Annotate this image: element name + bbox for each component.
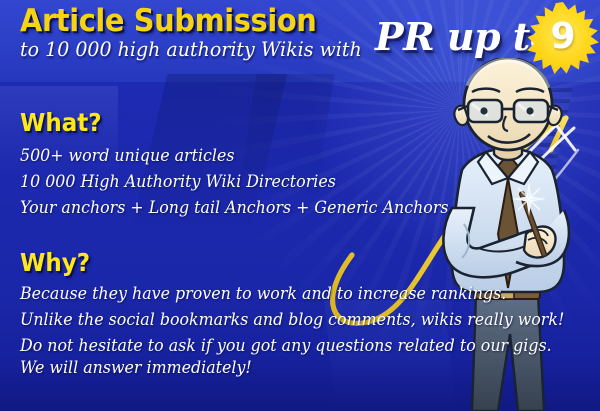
cartoon-businessman-illustration: [418, 58, 600, 411]
why-line-1: Because they have proven to work and to …: [20, 284, 506, 303]
page-subtitle: to 10 000 high authority Wikis with: [20, 37, 362, 61]
sunburst-star-icon: 9: [527, 2, 599, 74]
section-heading-why: Why?: [20, 248, 90, 277]
what-line-1: 500+ word unique articles: [20, 146, 235, 165]
why-line-4: We will answer immediately!: [20, 358, 252, 377]
section-heading-what: What?: [20, 108, 102, 137]
what-line-2: 10 000 High Authority Wiki Directories: [20, 172, 336, 191]
page-title: Article Submission: [20, 3, 316, 39]
why-line-2: Unlike the social bookmarks and blog com…: [20, 310, 564, 329]
what-line-3: Your anchors + Long tail Anchors + Gener…: [20, 198, 449, 217]
badge-value: 9: [527, 2, 599, 74]
promo-banner: Article Submission to 10 000 high author…: [0, 0, 600, 411]
why-line-3: Do not hesitate to ask if you got any qu…: [20, 336, 552, 355]
